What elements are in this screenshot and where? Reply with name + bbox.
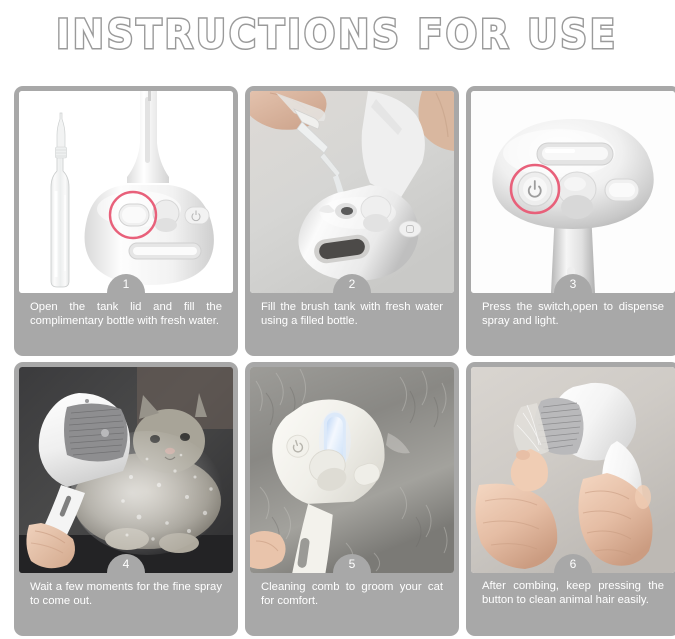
scene-bottle-and-device-tank-lid bbox=[19, 91, 233, 293]
step-card-2: 2 Fill the brush tank with fresh water u… bbox=[245, 86, 459, 356]
step-caption-6: After combing, keep pressing the button … bbox=[471, 573, 675, 636]
step-card-3: 3 Press the switch,open to dispense spra… bbox=[466, 86, 675, 356]
scene-hand-pouring-water-into-tank bbox=[250, 91, 454, 293]
step-image-5: 5 bbox=[250, 367, 454, 573]
step-caption-4: Wait a few moments for the fine spray to… bbox=[19, 573, 233, 636]
step-caption-3: Press the switch,open to dispense spray … bbox=[471, 293, 675, 356]
steps-grid: 1 Open the tank lid and fill the complim… bbox=[14, 86, 662, 636]
step-card-4: 4 Wait a few moments for the fine spray … bbox=[14, 362, 238, 636]
step-image-3: 3 bbox=[471, 91, 675, 293]
step-card-6: 6 After combing, keep pressing the butto… bbox=[466, 362, 675, 636]
scene-hands-removing-hair-from-brush bbox=[471, 367, 675, 573]
instructions-infographic: INSTRUCTIONS FOR USE bbox=[0, 0, 675, 639]
page-title: INSTRUCTIONS FOR USE bbox=[0, 2, 675, 68]
step-image-1: 1 bbox=[19, 91, 233, 293]
scene-closeup-power-switch bbox=[471, 91, 675, 293]
scene-brush-with-led-on-cat-fur bbox=[250, 367, 454, 573]
page-title-text: INSTRUCTIONS FOR USE bbox=[57, 12, 619, 58]
step-caption-2: Fill the brush tank with fresh water usi… bbox=[250, 293, 454, 356]
step-image-6: 6 bbox=[471, 367, 675, 573]
step-caption-5: Cleaning comb to groom your cat for comf… bbox=[250, 573, 454, 636]
step-image-2: 2 bbox=[250, 91, 454, 293]
step-card-1: 1 Open the tank lid and fill the complim… bbox=[14, 86, 238, 356]
step-card-5: 5 Cleaning comb to groom your cat for co… bbox=[245, 362, 459, 636]
step-image-4: 4 bbox=[19, 367, 233, 573]
scene-spraying-mist-at-cat bbox=[19, 367, 233, 573]
step-caption-1: Open the tank lid and fill the complimen… bbox=[19, 293, 233, 356]
